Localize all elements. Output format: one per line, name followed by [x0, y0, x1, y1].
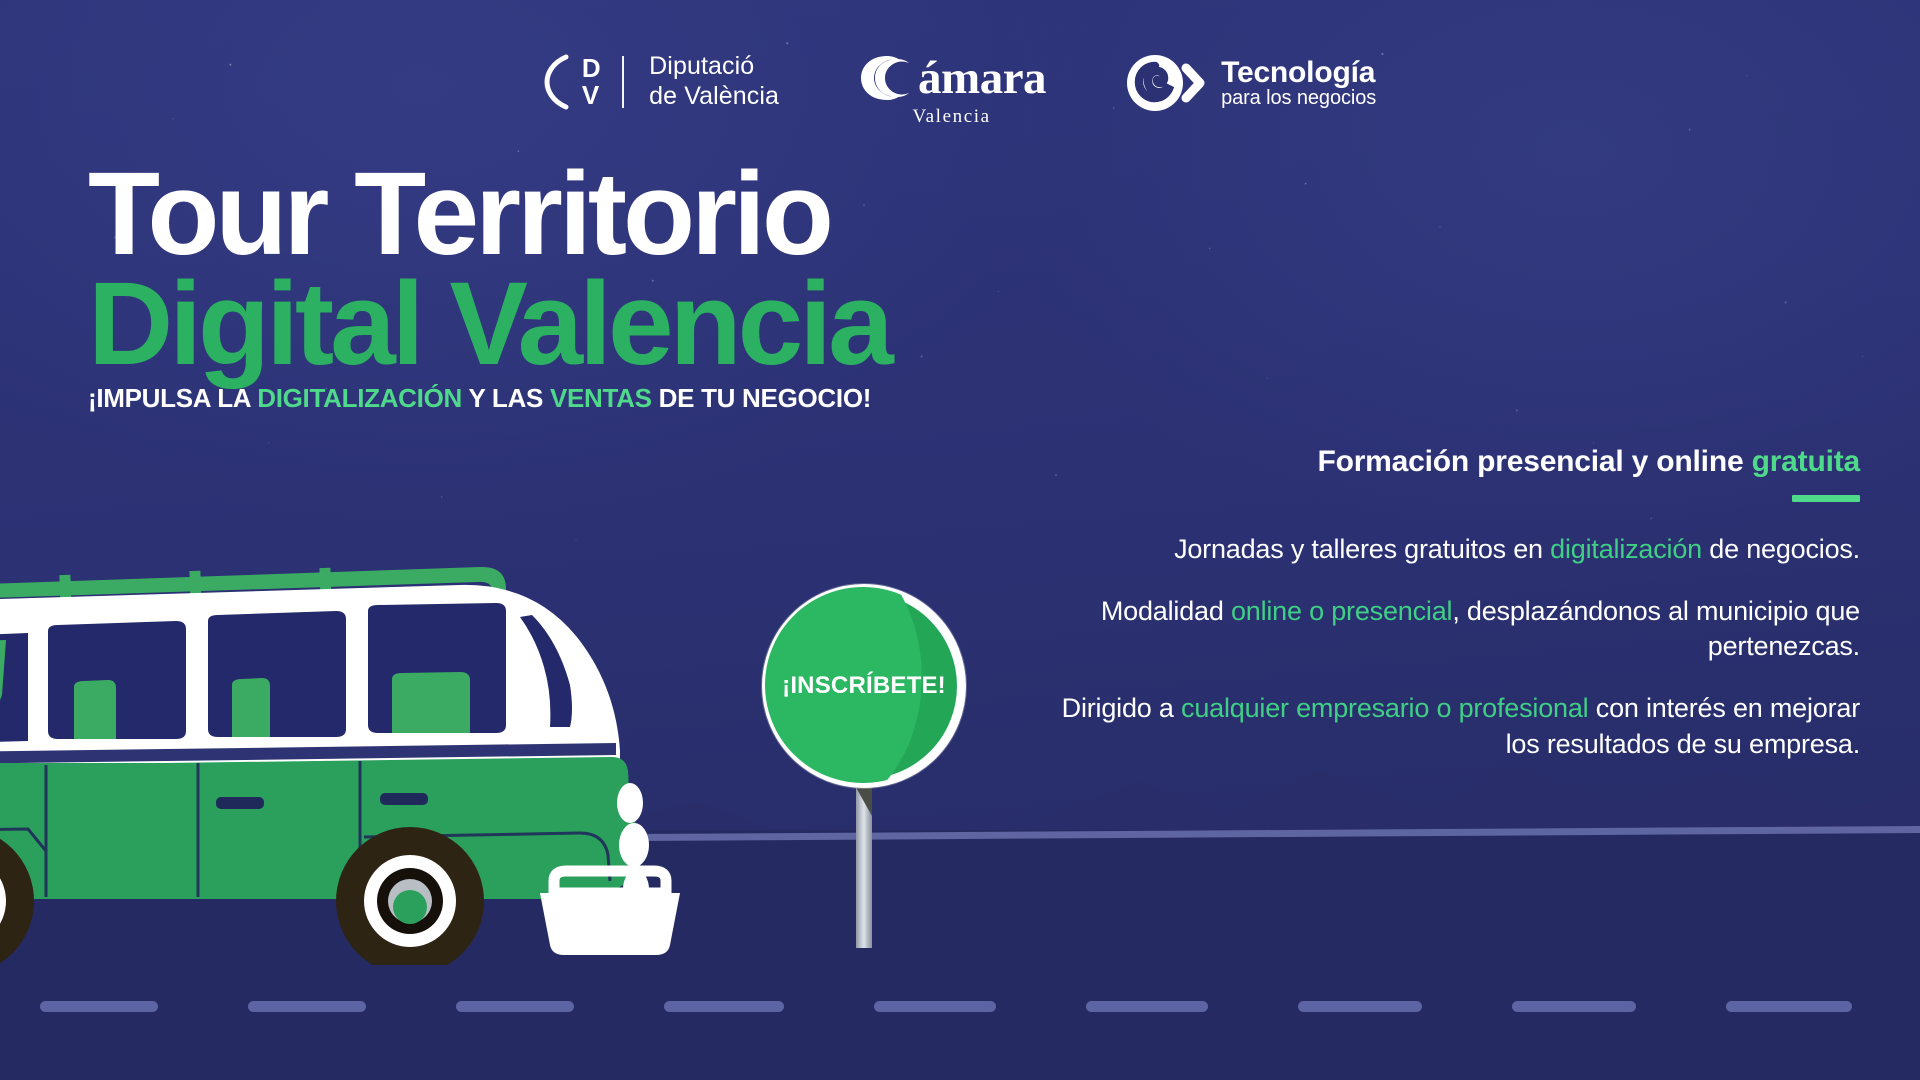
page-title: Tour Territorio Digital Valencia — [88, 160, 890, 379]
lane-dash — [664, 1001, 784, 1012]
dv-line-1: Diputació — [649, 52, 779, 82]
info-heading-highlight: gratuita — [1752, 445, 1860, 478]
camara-word: ámara — [918, 55, 1046, 102]
paragraph-highlight: cualquier empresario o profesional — [1181, 693, 1588, 723]
dv-monogram: D V — [582, 55, 601, 108]
paragraph-highlight: online o presencial — [1231, 596, 1452, 626]
info-paragraph: Jornadas y talleres gratuitos en digital… — [1030, 532, 1860, 568]
lane-dash — [1086, 1001, 1208, 1012]
sign-disc[interactable]: ¡INSCRÍBETE! — [762, 584, 966, 788]
van-lower-body — [0, 763, 612, 899]
cta-label: ¡INSCRÍBETE! — [782, 672, 946, 700]
tagline-part-2: Y LAS — [462, 383, 550, 413]
van-door-handle — [216, 797, 264, 809]
tecnologia-subtitle: para los negocios — [1221, 88, 1376, 109]
van-indicator-light — [617, 783, 643, 823]
info-heading-plain: Formación presencial y online — [1317, 445, 1751, 478]
heading-underline-rule — [1792, 495, 1860, 502]
lane-dash — [1298, 1001, 1422, 1012]
info-paragraph: Dirigido a cualquier empresario o profes… — [1030, 691, 1860, 762]
dv-wordmark: Diputació de València — [649, 52, 779, 111]
dv-letter-v: V — [582, 82, 601, 109]
tagline-part-3: DE TU NEGOCIO! — [652, 383, 871, 413]
tecnologia-wordmark: Tecnología para los negocios — [1221, 57, 1376, 110]
logo-diputacio-de-valencia: D V Diputació de València — [544, 52, 779, 111]
paragraph-highlight: digitalización — [1550, 534, 1702, 564]
camper-van-illustration — [0, 545, 700, 965]
logo-tecnologia-para-los-negocios: Tecnología para los negocios — [1124, 52, 1376, 114]
headline-line-1: Tour Territorio — [88, 160, 890, 270]
info-panel: Formación presencial y online gratuita J… — [1030, 445, 1860, 762]
dv-letter-d: D — [582, 55, 601, 82]
camara-c-icon — [857, 52, 913, 104]
tecnologia-title: Tecnología — [1221, 57, 1376, 89]
paragraph-part-1: Jornadas y talleres gratuitos en — [1174, 534, 1550, 564]
lane-dash — [874, 1001, 996, 1012]
dv-arc-icon — [544, 54, 570, 110]
lane-markings — [0, 1001, 1920, 1012]
logo-camara-valencia: ámara Valencia — [857, 52, 1046, 128]
paragraph-part-2: de negocios. — [1702, 534, 1860, 564]
van-headlight — [619, 823, 649, 867]
lane-dash — [1726, 1001, 1852, 1012]
tagline-highlight-digitalizacion: DIGITALIZACIÓN — [257, 383, 462, 413]
van-windows — [0, 603, 572, 745]
paragraph-part-2: , desplazándonos al municipio que perten… — [1452, 596, 1860, 662]
headline-line-2: Digital Valencia — [88, 270, 890, 380]
info-paragraph: Modalidad online o presencial, desplazán… — [1030, 594, 1860, 665]
tecnologia-mark-icon — [1124, 52, 1208, 114]
info-heading: Formación presencial y online gratuita — [1030, 445, 1860, 479]
van-door-handle — [380, 793, 428, 805]
tagline-highlight-ventas: VENTAS — [550, 383, 652, 413]
lane-dash — [40, 1001, 158, 1012]
tagline-part-1: ¡IMPULSA LA — [88, 383, 257, 413]
lane-dash — [1512, 1001, 1636, 1012]
paragraph-part-1: Modalidad — [1101, 596, 1231, 626]
logo-bar: D V Diputació de València ámara Valencia — [0, 52, 1920, 128]
paragraph-part-1: Dirigido a — [1062, 693, 1181, 723]
camara-subtitle: Valencia — [912, 106, 990, 128]
tagline: ¡IMPULSA LA DIGITALIZACIÓN Y LAS VENTAS … — [88, 383, 871, 414]
inscribete-road-sign[interactable]: ¡INSCRÍBETE! — [762, 584, 966, 788]
dv-divider — [622, 56, 624, 108]
lane-dash — [248, 1001, 366, 1012]
camara-wordmark-row: ámara — [857, 52, 1046, 104]
poster-canvas: D V Diputació de València ámara Valencia — [0, 0, 1920, 1080]
dv-line-2: de València — [649, 82, 779, 112]
lane-dash — [456, 1001, 574, 1012]
